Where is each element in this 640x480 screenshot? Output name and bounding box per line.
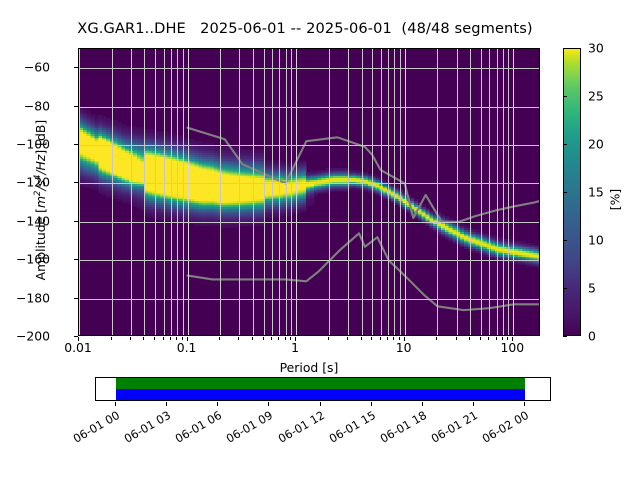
colorbar-label: [%] [608, 160, 623, 240]
y-tick-label: −120 [0, 175, 50, 190]
grid-line-vertical [112, 49, 113, 335]
x-tick-mark [238, 337, 239, 340]
timeline-tick-label: 06-01 15 [320, 408, 377, 449]
colorbar-tick-mark [563, 192, 567, 193]
x-tick-label: 0.1 [147, 340, 227, 355]
colorbar-tick-mark [563, 336, 567, 337]
colorbar-tick-mark [563, 288, 567, 289]
grid-line-vertical [497, 49, 498, 335]
y-tick-mark [74, 221, 78, 222]
ppsd-figure: XG.GAR1..DHE 2025-06-01 -- 2025-06-01 (4… [0, 0, 640, 480]
x-tick-mark [130, 337, 131, 340]
x-tick-mark [456, 337, 457, 340]
x-tick-label: 1 [255, 340, 335, 355]
timeline-tick-label: 06-01 06 [167, 408, 224, 449]
grid-line-vertical [405, 49, 406, 335]
timeline-tick-label: 06-01 00 [65, 408, 122, 449]
grid-line-horizontal [79, 145, 539, 146]
grid-line-vertical [177, 49, 178, 335]
grid-line-vertical [291, 49, 292, 335]
colorbar-tick-label: 0 [588, 329, 596, 344]
timeline-tick-mark [320, 402, 321, 406]
grid-line-vertical [329, 49, 330, 335]
grid-line-horizontal [79, 68, 539, 69]
timeline-tick-label: 06-02 00 [474, 408, 531, 449]
y-tick-mark [74, 298, 78, 299]
grid-line-vertical [481, 49, 482, 335]
grid-line-vertical [296, 49, 297, 335]
grid-line-vertical [131, 49, 132, 335]
timeline-tick-mark [268, 402, 269, 406]
x-tick-mark [347, 337, 348, 340]
coverage-bar-blue [116, 389, 525, 401]
grid-line-vertical [220, 49, 221, 335]
timeline-tick-mark [115, 402, 116, 406]
y-tick-mark [74, 106, 78, 107]
grid-line-vertical [183, 49, 184, 335]
x-tick-mark [143, 337, 144, 340]
grid-line-vertical [79, 49, 80, 335]
x-tick-mark [469, 337, 470, 340]
page-title: XG.GAR1..DHE 2025-06-01 -- 2025-06-01 (4… [0, 20, 610, 37]
grid-line-vertical [239, 49, 240, 335]
timeline-tick-label: 06-01 18 [372, 408, 429, 449]
timeline-tick-mark [166, 402, 167, 406]
timeline-tick-mark [422, 402, 423, 406]
grid-line-vertical [381, 49, 382, 335]
y-tick-label: −100 [0, 137, 50, 152]
grid-line-vertical [457, 49, 458, 335]
colorbar-tick-label: 10 [588, 233, 604, 248]
timeline-tick-label: 06-01 09 [218, 408, 275, 449]
grid-line-vertical [372, 49, 373, 335]
colorbar-tick-mark [563, 240, 567, 241]
y-tick-label: −160 [0, 252, 50, 267]
timeline-tick-mark [217, 402, 218, 406]
x-tick-label: 10 [364, 340, 444, 355]
x-tick-label: 100 [472, 340, 552, 355]
colorbar-tick-label: 30 [588, 41, 604, 56]
grid-line-vertical [264, 49, 265, 335]
y-tick-mark [74, 67, 78, 68]
timeline-tick-mark [371, 402, 372, 406]
ppsd-plot-area [78, 48, 540, 336]
grid-line-vertical [394, 49, 395, 335]
grid-line-vertical [272, 49, 273, 335]
grid-line-vertical [513, 49, 514, 335]
x-axis-label: Period [s] [78, 360, 540, 375]
y-tick-label: −80 [0, 98, 50, 113]
colorbar-tick-label: 5 [588, 281, 596, 296]
y-tick-label: −60 [0, 60, 50, 75]
grid-line-vertical [348, 49, 349, 335]
y-tick-label: −140 [0, 213, 50, 228]
grid-line-vertical [437, 49, 438, 335]
grid-line-vertical [171, 49, 172, 335]
colorbar-tick-mark [563, 48, 567, 49]
grid-line-vertical [164, 49, 165, 335]
grid-line-vertical [489, 49, 490, 335]
data-coverage-timeline [95, 377, 551, 401]
timeline-tick-label: 06-01 12 [269, 408, 326, 449]
x-tick-mark [252, 337, 253, 340]
grid-line-vertical [508, 49, 509, 335]
grid-line-horizontal [79, 107, 539, 108]
grid-line-horizontal [79, 222, 539, 223]
timeline-tick-mark [473, 402, 474, 406]
colorbar-tick-mark [563, 144, 567, 145]
grid-line-vertical [144, 49, 145, 335]
colorbar-tick-label: 25 [588, 89, 604, 104]
grid-line-horizontal [79, 299, 539, 300]
y-tick-mark [74, 259, 78, 260]
grid-line-vertical [503, 49, 504, 335]
grid-line-vertical [362, 49, 363, 335]
grid-line-vertical [253, 49, 254, 335]
grid-line-horizontal [79, 260, 539, 261]
y-tick-mark [74, 144, 78, 145]
x-tick-mark [361, 337, 362, 340]
timeline-tick-label: 06-01 03 [116, 408, 173, 449]
grid-line-vertical [279, 49, 280, 335]
grid-line-vertical [470, 49, 471, 335]
colorbar-tick-mark [563, 96, 567, 97]
timeline-tick-mark [524, 402, 525, 406]
timeline-tick-label: 06-01 21 [423, 408, 480, 449]
grid-line-vertical [155, 49, 156, 335]
colorbar-tick-label: 15 [588, 185, 604, 200]
grid-line-vertical [400, 49, 401, 335]
colorbar-tick-label: 20 [588, 137, 604, 152]
y-tick-mark [74, 182, 78, 183]
x-tick-label: 0.01 [38, 340, 118, 355]
grid-line-vertical [286, 49, 287, 335]
grid-line-horizontal [79, 183, 539, 184]
grid-line-vertical [388, 49, 389, 335]
coverage-bar-green [116, 378, 525, 389]
grid-line-vertical [188, 49, 189, 335]
y-tick-label: −180 [0, 290, 50, 305]
